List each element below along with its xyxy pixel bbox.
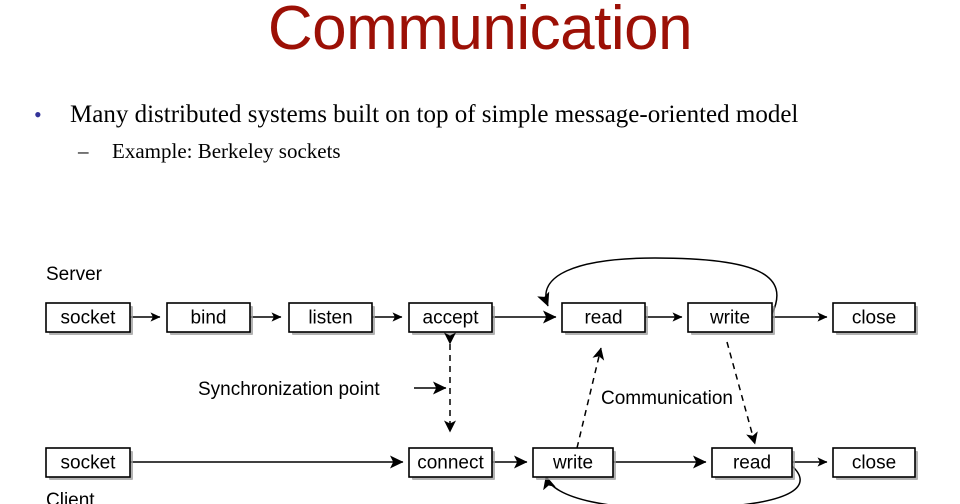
bullet-level-2: – Example: Berkeley sockets	[0, 138, 960, 164]
server-box-close[interactable]: close	[833, 303, 918, 335]
client-box-close[interactable]: close	[833, 448, 918, 480]
socket-flow-diagram: Server socket b	[0, 236, 960, 504]
bullet-marker-dot: •	[34, 100, 42, 130]
client-box-write-label: write	[552, 453, 593, 474]
bullet-level-1-text: Many distributed systems built on top of…	[70, 101, 798, 128]
sync-point-link: Synchronization point	[198, 344, 450, 432]
server-box-read-label: read	[584, 308, 622, 329]
server-box-socket-label: socket	[61, 308, 117, 329]
server-row: Server socket b	[46, 258, 918, 335]
client-box-read-label: read	[733, 453, 771, 474]
server-box-read[interactable]: read	[562, 303, 648, 335]
server-box-write-label: write	[709, 308, 750, 329]
client-box-read[interactable]: read	[712, 448, 795, 480]
bullet-list: • Many distributed systems built on top …	[0, 100, 960, 164]
sync-point-label: Synchronization point	[198, 379, 380, 400]
server-box-close-label: close	[852, 308, 896, 329]
server-box-accept-label: accept	[423, 308, 480, 329]
communication-label: Communication	[601, 388, 733, 409]
server-box-bind[interactable]: bind	[167, 303, 253, 335]
client-role-label: Client	[46, 490, 95, 504]
communication-links: Communication	[577, 342, 755, 448]
client-box-close-label: close	[852, 453, 896, 474]
bullet-level-2-text: Example: Berkeley sockets	[112, 139, 341, 163]
bullet-marker-dash: –	[78, 138, 89, 164]
server-box-bind-label: bind	[191, 308, 227, 329]
client-row: socket connect write read	[46, 448, 918, 504]
slide: Communication • Many distributed systems…	[0, 0, 960, 504]
server-box-accept[interactable]: accept	[409, 303, 495, 335]
dashed-client-write-to-server-read	[577, 348, 601, 448]
client-box-socket[interactable]: socket	[46, 448, 133, 480]
bullet-level-1: • Many distributed systems built on top …	[0, 100, 960, 130]
server-box-listen-label: listen	[308, 308, 352, 329]
server-box-listen[interactable]: listen	[289, 303, 375, 335]
server-box-socket[interactable]: socket	[46, 303, 133, 335]
client-box-connect[interactable]: connect	[409, 448, 495, 480]
server-role-label: Server	[46, 264, 103, 285]
client-box-socket-label: socket	[61, 453, 117, 474]
client-box-connect-label: connect	[417, 453, 484, 474]
client-box-write[interactable]: write	[533, 448, 616, 480]
page-title: Communication	[0, 0, 960, 66]
server-box-write[interactable]: write	[688, 303, 775, 335]
